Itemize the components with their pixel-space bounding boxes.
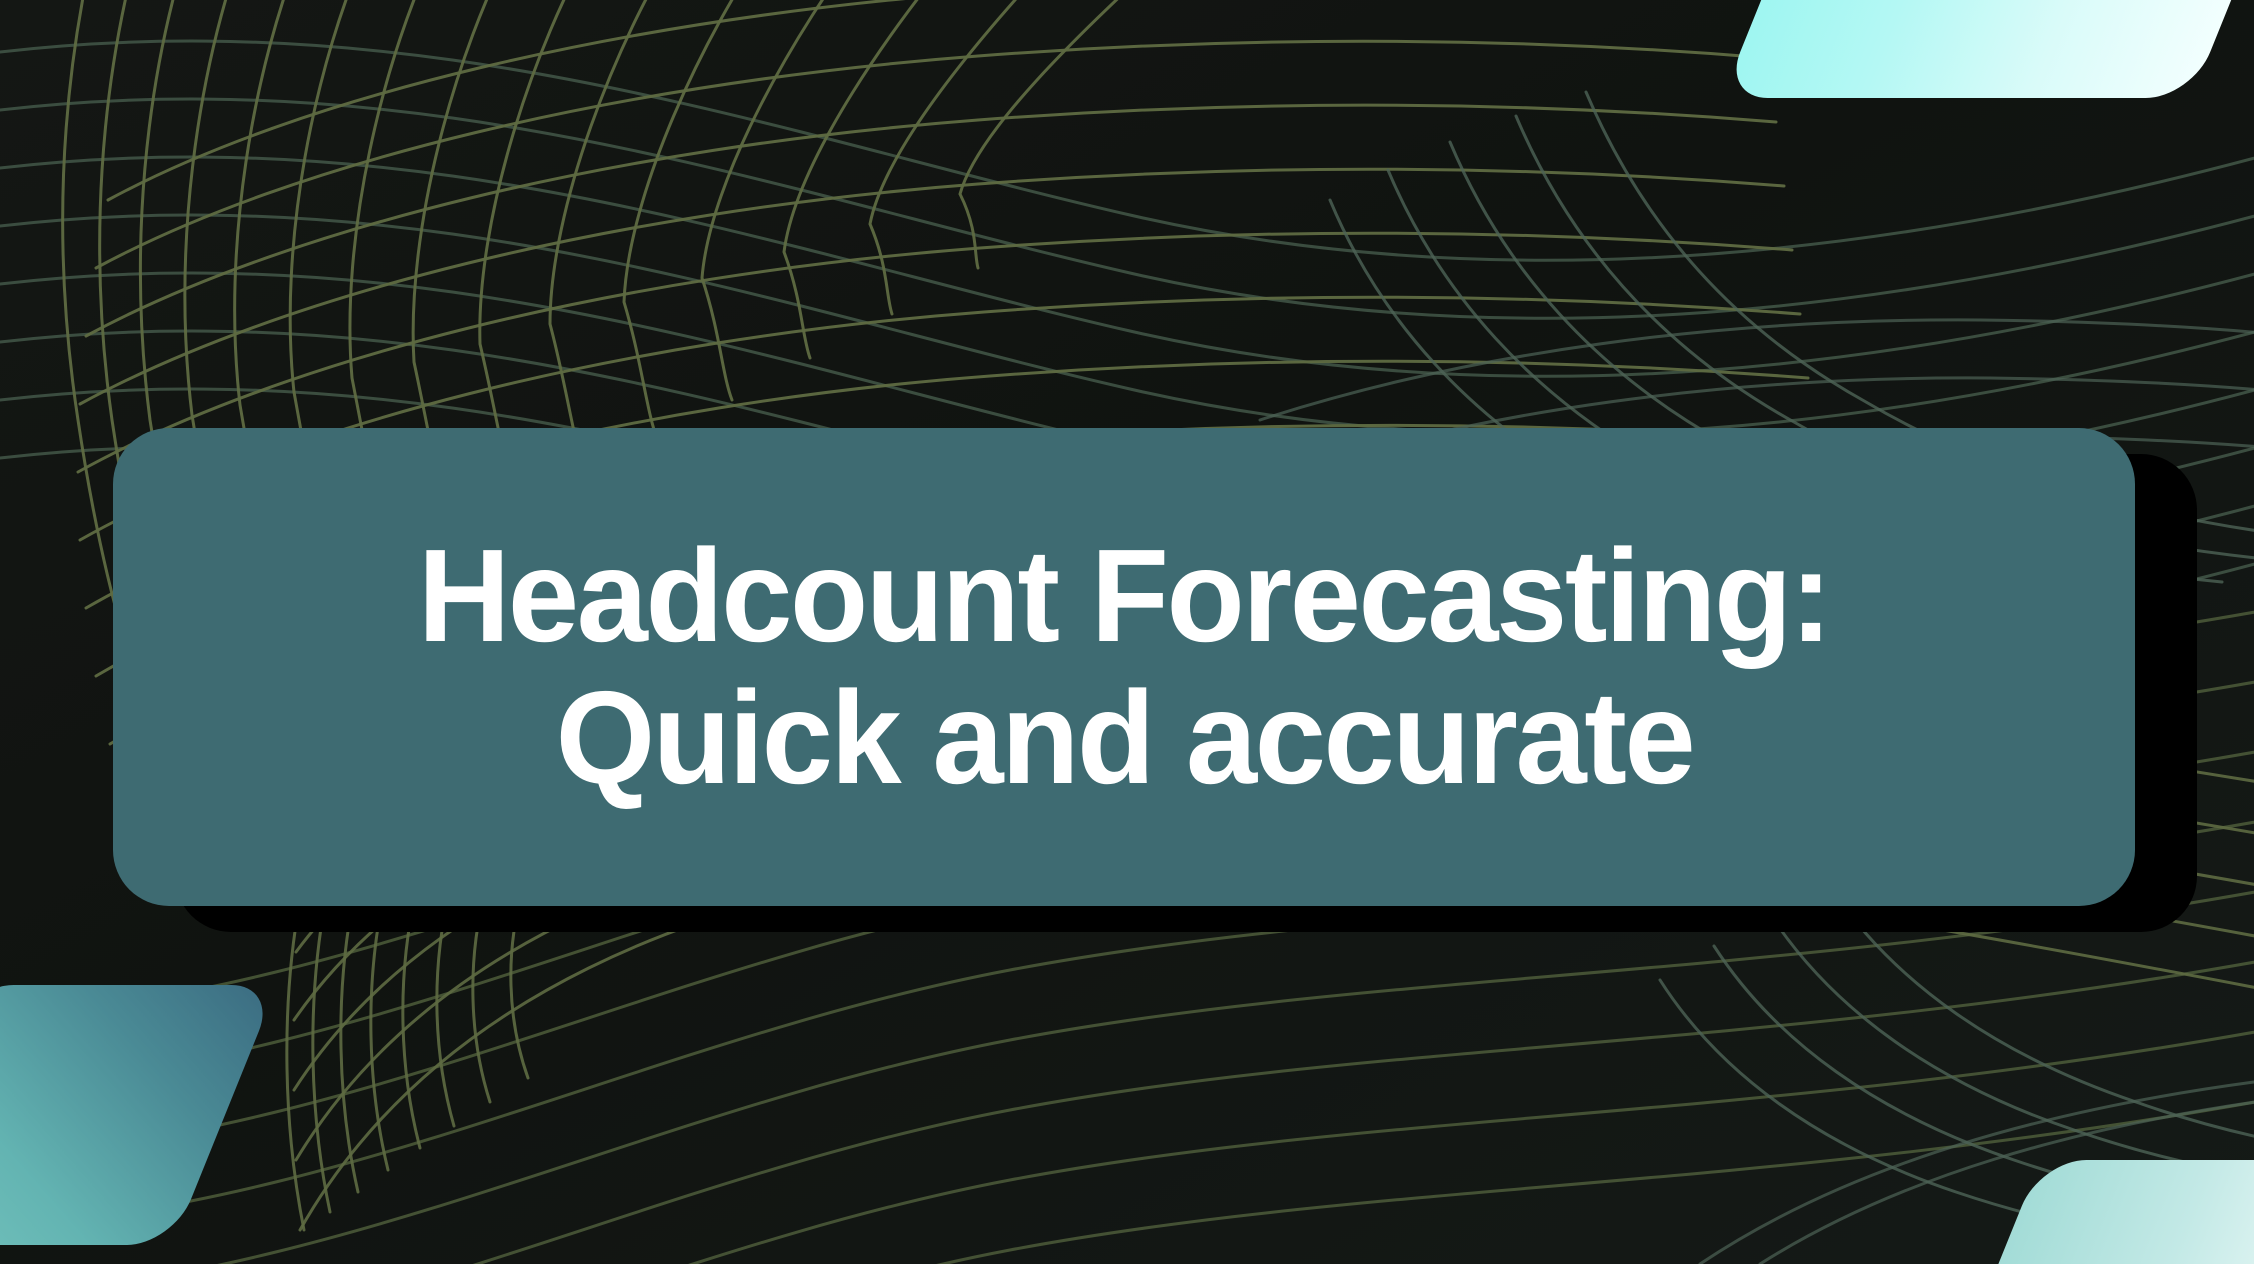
headline-card-wrapper: Headcount Forecasting: Quick and accurat…	[113, 428, 2135, 906]
slide-canvas: Headcount Forecasting: Quick and accurat…	[0, 0, 2254, 1264]
decorative-shape-top-right	[1722, 0, 2254, 98]
headline-card: Headcount Forecasting: Quick and accurat…	[113, 428, 2135, 906]
headline-line-2: Quick and accurate	[555, 670, 1693, 806]
headline-line-1: Headcount Forecasting:	[418, 528, 1830, 664]
